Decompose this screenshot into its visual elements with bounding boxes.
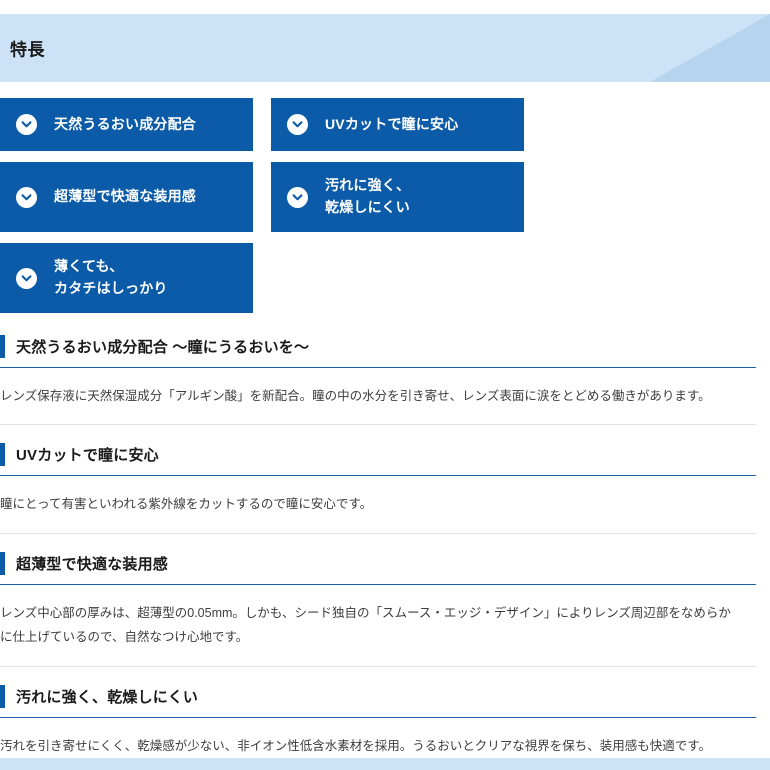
feature-badge-natural-moisture[interactable]: 天然うるおい成分配合 [0,98,253,151]
feature-badge-uv-cut[interactable]: UVカットで瞳に安心 [271,98,524,151]
feature-badge-shape-retention[interactable]: 薄くても、 カタチはしっかり [0,243,253,313]
feature-section-heading: 超薄型で快適な装用感 [0,552,756,575]
feature-heading-text: UVカットで瞳に安心 [16,444,159,465]
feature-heading-text: 超薄型で快適な装用感 [16,553,168,574]
feature-section-heading: 天然うるおい成分配合 ～瞳にうるおいを～ [0,335,756,358]
chevron-down-circle-icon [16,187,37,208]
corner-wedge-decoration [650,14,770,82]
feature-badge-label: UVカットで瞳に安心 [325,114,458,136]
next-section-strip [0,758,770,770]
feature-body-text: レンズ保存液に天然保湿成分「アルギン酸」を新配合。瞳の中の水分を引き寄せ、レンズ… [0,368,756,425]
feature-badge-stain-resistant[interactable]: 汚れに強く、 乾燥しにくい [271,162,524,232]
feature-badge-label: 超薄型で快適な装用感 [54,186,196,208]
chevron-down-circle-icon [287,187,308,208]
feature-body-text: 瞳にとって有害といわれる紫外線をカットするので瞳に安心です。 [0,476,756,533]
feature-badge-label: 汚れに強く、 乾燥しにくい [325,175,410,218]
feature-body-text: レンズ中心部の厚みは、超薄型の0.05mm。しかも、シード独自の「スムース・エッ… [0,585,756,667]
section-header: 特長 [0,14,770,82]
feature-section-ultra-thin: 超薄型で快適な装用感 レンズ中心部の厚みは、超薄型の0.05mm。しかも、シード… [0,552,770,667]
feature-badge-label: 薄くても、 カタチはしっかり [54,256,168,299]
section-spacer [0,534,770,552]
page-root: 特長 天然うるおい成分配合 UVカットで瞳に安心 [0,14,770,770]
feature-section-natural-moisture: 天然うるおい成分配合 ～瞳にうるおいを～ レンズ保存液に天然保湿成分「アルギン酸… [0,335,770,425]
feature-heading-text: 天然うるおい成分配合 ～瞳にうるおいを～ [16,336,309,357]
chevron-down-circle-icon [287,114,308,135]
feature-badge-grid: 天然うるおい成分配合 UVカットで瞳に安心 超薄型で快適な装用感 [0,98,770,313]
chevron-down-circle-icon [16,114,37,135]
feature-section-uv-cut: UVカットで瞳に安心 瞳にとって有害といわれる紫外線をカットするので瞳に安心です… [0,443,770,533]
section-spacer [0,425,770,443]
feature-section-heading: 汚れに強く、乾燥しにくい [0,685,756,708]
feature-heading-text: 汚れに強く、乾燥しにくい [16,686,198,707]
feature-badge-label: 天然うるおい成分配合 [54,114,196,136]
feature-detail-list: 天然うるおい成分配合 ～瞳にうるおいを～ レンズ保存液に天然保湿成分「アルギン酸… [0,335,770,770]
section-spacer [0,667,770,685]
feature-section-heading: UVカットで瞳に安心 [0,443,756,466]
chevron-down-circle-icon [16,268,37,289]
feature-badge-ultra-thin[interactable]: 超薄型で快適な装用感 [0,162,253,232]
page-title: 特長 [10,36,45,61]
